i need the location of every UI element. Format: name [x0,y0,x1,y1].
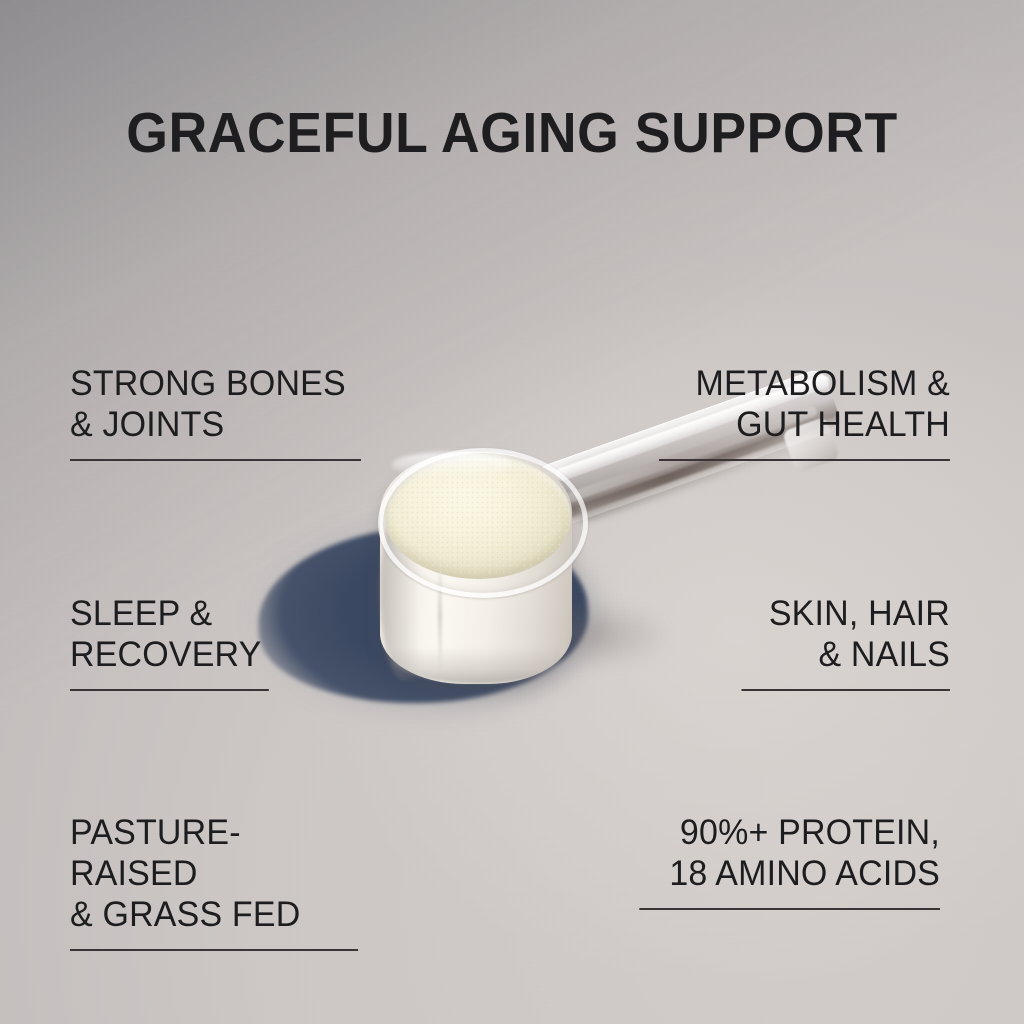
feature-rule [639,908,940,910]
feature-rule [70,459,361,461]
feature-line-2: RECOVERY [70,634,269,675]
feature-sleep-recovery: SLEEP & RECOVERY [70,593,269,691]
feature-line-1: SKIN, HAIR [741,593,950,634]
feature-rule [70,949,358,951]
feature-line-1: SLEEP & [70,593,269,634]
feature-metabolism-gut-health: METABOLISM & GUT HEALTH [659,363,950,461]
feature-strong-bones-joints: STRONG BONES & JOINTS [70,363,361,461]
feature-rule [741,689,950,691]
feature-line-1: 90%+ PROTEIN, [639,812,940,853]
feature-line-1: METABOLISM & [659,363,950,404]
product-feature-graphic: GRACEFUL AGING SUPPORT STRONG BONES & JO… [0,0,1024,1024]
feature-line-2: & JOINTS [70,404,361,445]
feature-skin-hair-nails: SKIN, HAIR & NAILS [741,593,950,691]
feature-protein-amino-acids: 90%+ PROTEIN, 18 AMINO ACIDS [639,812,940,910]
page-title: GRACEFUL AGING SUPPORT [31,100,994,166]
feature-line-2: & NAILS [741,634,950,675]
feature-pasture-raised-grass-fed: PASTURE-RAISED & GRASS FED [70,812,358,951]
feature-line-1: PASTURE-RAISED [70,812,358,894]
feature-rule [659,459,950,461]
feature-rule [70,689,269,691]
feature-line-2: GUT HEALTH [659,404,950,445]
feature-line-1: STRONG BONES [70,363,361,404]
feature-line-2: & GRASS FED [70,894,358,935]
feature-line-2: 18 AMINO ACIDS [639,853,940,894]
